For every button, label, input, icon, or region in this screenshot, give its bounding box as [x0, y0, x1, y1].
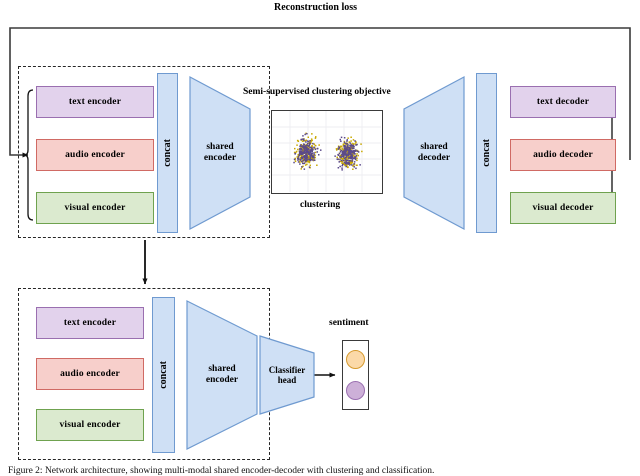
- visual-decoder-label: visual decoder: [532, 203, 593, 213]
- sentiment-label: sentiment: [329, 318, 369, 328]
- text-encoder-block[interactable]: text encoder: [36, 86, 154, 118]
- shared-encoder-block[interactable]: shared encoder: [189, 76, 251, 230]
- encoder-concat-block[interactable]: concat: [157, 73, 178, 233]
- audio-decoder-label: audio decoder: [533, 150, 593, 160]
- visual-encoder-block[interactable]: visual encoder: [36, 192, 154, 224]
- audio-encoder-block[interactable]: audio encoder: [36, 139, 154, 171]
- classifier-concat-block[interactable]: concat: [152, 297, 175, 453]
- audio-decoder-block[interactable]: audio decoder: [510, 139, 616, 171]
- classifier-text-encoder-label: text encoder: [64, 318, 116, 328]
- reconstruction-loss-label: Reconstruction loss: [274, 2, 357, 13]
- text-decoder-label: text decoder: [537, 97, 589, 107]
- classifier-visual-encoder-block[interactable]: visual encoder: [36, 409, 144, 441]
- classifier-visual-encoder-label: visual encoder: [59, 420, 120, 430]
- classifier-audio-encoder-label: audio encoder: [60, 369, 120, 379]
- clustering-panel-label: clustering: [300, 200, 340, 210]
- text-decoder-block[interactable]: text decoder: [510, 86, 616, 118]
- audio-encoder-label: audio encoder: [65, 150, 125, 160]
- figure-canvas: Reconstruction loss text encoder audio e…: [0, 0, 640, 476]
- clustering-objective-label: Semi-supervised clustering objective: [243, 87, 391, 97]
- visual-encoder-label: visual encoder: [64, 203, 125, 213]
- encoder-concat-label: concat: [162, 139, 173, 167]
- clustering-plot: [271, 110, 383, 194]
- decoder-concat-block[interactable]: concat: [476, 73, 497, 233]
- sentiment-output-box: [342, 340, 369, 410]
- classifier-shared-encoder-block[interactable]: shared encoder: [186, 300, 258, 450]
- shared-decoder-block[interactable]: shared decoder: [403, 76, 465, 230]
- sentiment-class-positive-dot: [346, 350, 365, 369]
- classifier-audio-encoder-block[interactable]: audio encoder: [36, 358, 144, 390]
- sentiment-class-negative-dot: [346, 381, 365, 400]
- classifier-head-block[interactable]: Classifier head: [259, 335, 315, 415]
- visual-decoder-block[interactable]: visual decoder: [510, 192, 616, 224]
- text-encoder-label: text encoder: [69, 97, 121, 107]
- figure-caption: Figure 2: Network architecture, showing …: [8, 466, 632, 476]
- classifier-concat-label: concat: [158, 361, 169, 389]
- decoder-concat-label: concat: [481, 139, 492, 167]
- classifier-text-encoder-block[interactable]: text encoder: [36, 307, 144, 339]
